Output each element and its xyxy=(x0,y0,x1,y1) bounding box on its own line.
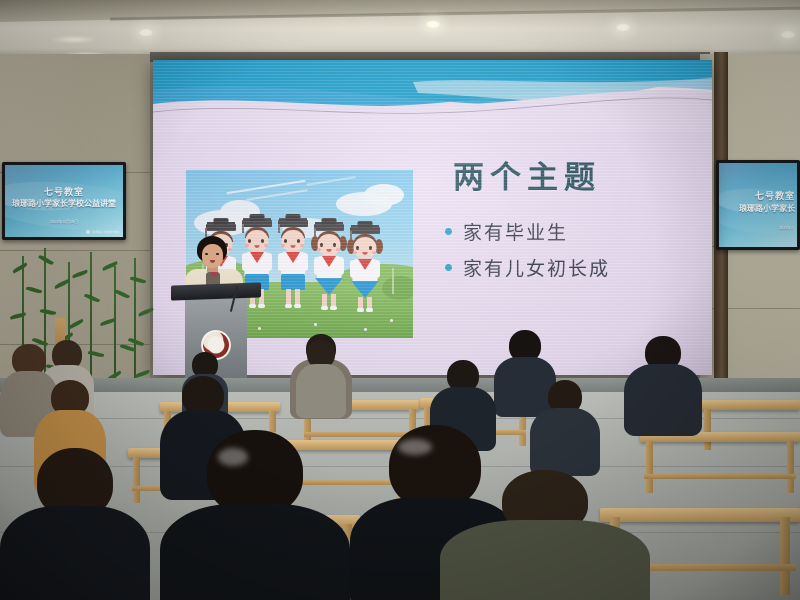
arm xyxy=(278,253,284,271)
cloud-icon xyxy=(364,184,404,206)
slide-title: 两个主题 xyxy=(453,152,601,197)
ceiling-downlight xyxy=(138,28,154,37)
shoe xyxy=(285,304,292,308)
ceiling-downlight xyxy=(425,20,441,29)
audience-person xyxy=(160,430,350,600)
eye xyxy=(320,243,323,247)
graduation-cap-icon xyxy=(350,227,380,234)
torso xyxy=(296,364,346,418)
red-scarf-icon xyxy=(358,259,372,270)
monitor-left-date: 2023年12月18日 xyxy=(5,219,123,225)
cheek xyxy=(317,248,321,251)
cheek xyxy=(281,244,285,247)
cheek xyxy=(300,244,304,247)
bullet-dot-icon xyxy=(445,228,452,235)
red-scarf-icon xyxy=(250,252,264,263)
monitor-left-logo-text: 琅琊路小学家长学校 xyxy=(92,230,119,234)
audience-person xyxy=(624,336,702,432)
shorts xyxy=(281,274,305,290)
arm xyxy=(266,253,272,271)
arm xyxy=(374,260,380,278)
shoe xyxy=(330,306,337,310)
eye xyxy=(284,239,287,243)
monitor-screen: 七号教室 琅琊路小学家长学校公益讲堂 2023年12月18日 琅琊路小学家长学校 xyxy=(5,165,123,237)
eye xyxy=(356,246,359,250)
leg xyxy=(295,289,300,305)
monitor-right-subtitle: 琅琊路小学家长 xyxy=(719,203,797,214)
presenter-eye xyxy=(205,253,208,255)
slide-bullet-text: 家有毕业生 xyxy=(463,218,568,245)
hair-highlight xyxy=(398,439,432,455)
arm xyxy=(338,257,344,275)
graduation-cap-icon xyxy=(278,220,308,227)
graduation-cap-icon xyxy=(242,220,272,227)
slide-wave-graphic xyxy=(153,60,712,132)
monitor-right-date: 2023年1 xyxy=(719,225,797,231)
torso xyxy=(0,506,150,600)
monitor-bezel: 七号教室 琅琊路小学家长学校公益讲堂 2023年12月18日 琅琊路小学家长学校 xyxy=(5,165,123,237)
tree-trunk xyxy=(392,268,394,294)
bush-shape xyxy=(382,276,413,300)
shoe xyxy=(366,308,373,312)
cartoon-student xyxy=(312,220,346,316)
arm xyxy=(302,253,308,271)
ceiling-wallwash-light xyxy=(52,36,96,43)
slide-bullet-list: 家有毕业生 家有儿女初长成 xyxy=(445,218,610,290)
flower-dot xyxy=(314,323,317,326)
desk xyxy=(640,432,800,494)
cartoon-student xyxy=(348,222,382,316)
cap-tassel xyxy=(278,224,280,233)
audience-person xyxy=(296,340,346,412)
torso xyxy=(440,520,650,600)
slide-bullet-text: 家有儿女初长成 xyxy=(463,254,610,281)
wall-monitor-right[interactable]: 七号教室 琅琊路小学家长 2023年1 xyxy=(716,160,800,250)
logo-mark-icon xyxy=(86,230,90,234)
graduation-cap-icon xyxy=(206,224,236,231)
cheek xyxy=(336,248,340,251)
eye xyxy=(369,246,372,250)
eye xyxy=(297,239,300,243)
flower-dot xyxy=(390,319,393,322)
monitor-left-logo: 琅琊路小学家长学校 xyxy=(86,230,119,234)
audience-person xyxy=(530,380,600,472)
monitor-left-title: 七号教室 xyxy=(5,185,123,198)
hair-highlight xyxy=(218,448,248,466)
torso xyxy=(530,408,600,476)
monitor-left-subtitle: 琅琊路小学家长学校公益讲堂 xyxy=(5,198,123,209)
flower-dot xyxy=(364,328,367,331)
audience-person xyxy=(0,448,150,600)
shoe xyxy=(357,308,364,312)
monitor-bezel: 七号教室 琅琊路小学家长 2023年1 xyxy=(719,163,797,247)
cap-tassel xyxy=(242,224,244,233)
skirt xyxy=(315,278,343,295)
slide-bullet-item: 家有儿女初长成 xyxy=(445,254,610,281)
slide-bullet-item: 家有毕业生 xyxy=(445,218,610,245)
shoe xyxy=(294,304,301,308)
bullet-dot-icon xyxy=(445,264,452,271)
ceiling-downlight xyxy=(615,23,631,32)
arm xyxy=(350,260,356,278)
skirt xyxy=(351,281,379,298)
eye xyxy=(261,239,264,243)
monitor-screen: 七号教室 琅琊路小学家长 2023年1 xyxy=(719,163,797,247)
cheek xyxy=(245,244,249,247)
red-scarf-icon xyxy=(322,256,336,267)
presenter-face xyxy=(202,244,223,268)
cartoon-student xyxy=(276,218,310,316)
eye xyxy=(248,239,251,243)
ceiling-downlight xyxy=(780,30,796,39)
podium-top-surface xyxy=(171,282,261,300)
presenter-eye xyxy=(216,253,219,255)
red-scarf-icon xyxy=(286,252,300,263)
audience-person xyxy=(440,470,650,600)
wave-svg xyxy=(153,60,712,132)
lecture-hall-photo: 七号教室 琅琊路小学家长学校公益讲堂 2023年12月18日 琅琊路小学家长学校… xyxy=(0,0,800,600)
cheek xyxy=(372,251,376,254)
cheek xyxy=(264,244,268,247)
eye xyxy=(333,243,336,247)
torso xyxy=(160,504,350,600)
arm xyxy=(314,257,320,275)
graduation-cap-icon xyxy=(314,224,344,231)
shoe xyxy=(321,306,328,310)
wall-monitor-left[interactable]: 七号教室 琅琊路小学家长学校公益讲堂 2023年12月18日 琅琊路小学家长学校 xyxy=(2,162,126,240)
cheek xyxy=(353,251,357,254)
torso xyxy=(624,364,702,436)
monitor-right-title: 七号教室 xyxy=(719,189,797,202)
leg xyxy=(286,289,291,305)
